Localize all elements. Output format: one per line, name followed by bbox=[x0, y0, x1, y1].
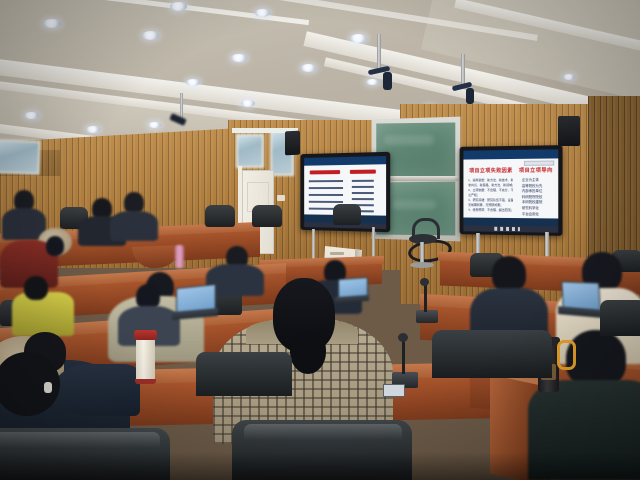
slide-right-heading-text: 项目立项导向 bbox=[519, 168, 553, 174]
conference-microphone-right-gooseneck bbox=[424, 284, 427, 312]
conference-microphone-center-gooseneck bbox=[402, 340, 405, 374]
display-right[interactable]: 项目立项失败因素 项目立项导向 1、指导思想：新方法、新技术、新方案； 非共识、… bbox=[460, 145, 563, 236]
slide-right-heading bbox=[350, 170, 376, 174]
chair-mid-row-center[interactable] bbox=[196, 352, 292, 396]
lectern-logo bbox=[330, 252, 344, 255]
stool-post bbox=[420, 242, 424, 264]
conference-microphone-right-base[interactable] bbox=[416, 310, 438, 323]
downlight bbox=[241, 100, 255, 107]
chalk-smudge-2 bbox=[392, 200, 436, 209]
slide-right-item: 平台应用化 bbox=[522, 212, 556, 218]
downlight bbox=[43, 19, 61, 28]
conference-microphone-right-capsule bbox=[420, 278, 429, 286]
downlight bbox=[186, 79, 200, 86]
slide-window-controls bbox=[524, 161, 554, 166]
wall-speaker-right bbox=[558, 116, 580, 146]
slide-left-body: 1、指导思想：新方法、新技术、新方案； 非共识、新思路、新方法、新领域； 2、立… bbox=[468, 178, 513, 213]
laptop-center-base[interactable] bbox=[335, 295, 369, 303]
conference-room-photo: 项目立项失败因素 项目立项导向 1、指导思想：新方法、新技术、新方案； 非共识、… bbox=[0, 0, 640, 480]
attendee-furhood-left-head bbox=[46, 236, 64, 256]
tumbler-base-ring bbox=[135, 379, 156, 384]
tumbler-lid[interactable] bbox=[134, 330, 157, 340]
downlight bbox=[231, 54, 247, 62]
downlight bbox=[142, 31, 159, 40]
floor-shadow bbox=[0, 452, 640, 480]
stool-base bbox=[410, 262, 434, 268]
chair-back-4[interactable] bbox=[333, 204, 361, 225]
downlight bbox=[24, 112, 39, 119]
slide-left-heading bbox=[310, 170, 340, 174]
conference-microphone-center-capsule bbox=[398, 333, 408, 342]
downlight bbox=[563, 74, 575, 80]
water-bottle-strap bbox=[557, 340, 576, 370]
chalk-smudge-1 bbox=[384, 135, 434, 145]
display-right-slide: 项目立项失败因素 项目立项导向 1、指导思想：新方法、新技术、新方案； 非共识、… bbox=[463, 149, 558, 226]
attendee-yellow-vest-head bbox=[24, 276, 48, 300]
foreground-chair-center-sheen bbox=[244, 424, 402, 440]
window-left bbox=[0, 139, 41, 175]
slide-left-heading-text: 项目立项失败因素 bbox=[469, 168, 513, 174]
slide-left-item: 4、经费预算：不合理、超出范围； bbox=[468, 208, 513, 213]
display-left-stand-post-b bbox=[372, 227, 375, 259]
window-mid bbox=[236, 134, 264, 168]
stool-backrest bbox=[412, 218, 440, 239]
chair-right-row[interactable] bbox=[432, 330, 552, 378]
camera-body-center bbox=[383, 72, 392, 90]
camera-body-right bbox=[466, 88, 474, 104]
downlight bbox=[366, 79, 379, 85]
attendee-plaid-coat-ponytail bbox=[290, 330, 326, 374]
slide-top-band bbox=[304, 156, 386, 166]
conference-microphone-center-screen bbox=[383, 384, 405, 397]
display-right-taskbar-icons[interactable] bbox=[494, 227, 520, 231]
camera-mount-pole-center bbox=[377, 34, 381, 70]
chair-back-2[interactable] bbox=[205, 205, 235, 227]
attendee-bottom-left-earbud-icon bbox=[44, 382, 52, 393]
wall-speaker-left bbox=[285, 131, 300, 156]
camera-mount-pole-right bbox=[461, 54, 465, 86]
attendee-front-left-arm-shape bbox=[54, 364, 140, 416]
attendee-suit-right-head bbox=[492, 256, 526, 292]
downlight bbox=[170, 2, 187, 11]
display-right-stand-post-b bbox=[545, 232, 549, 258]
chair-far-right[interactable] bbox=[600, 300, 640, 336]
slide-right-body: 企业为主体 高等院校为先 内部承担单位 科研院所院校 本研院校建院 研究科学化 … bbox=[522, 178, 556, 218]
wall-outlet bbox=[277, 195, 285, 201]
projector-mount-pole-left bbox=[180, 93, 183, 119]
downlight bbox=[148, 122, 161, 128]
chair-back-3[interactable] bbox=[252, 205, 282, 227]
bottle-pink[interactable] bbox=[175, 245, 184, 268]
downlight bbox=[301, 64, 316, 72]
foreground-chair-left-sheen bbox=[0, 432, 160, 448]
attendee-back-row-right-body bbox=[110, 211, 158, 241]
tumbler-body[interactable] bbox=[136, 338, 155, 382]
downlight bbox=[255, 9, 270, 17]
downlight bbox=[350, 34, 367, 43]
downlight bbox=[86, 126, 100, 133]
slide-top-band bbox=[463, 149, 558, 159]
